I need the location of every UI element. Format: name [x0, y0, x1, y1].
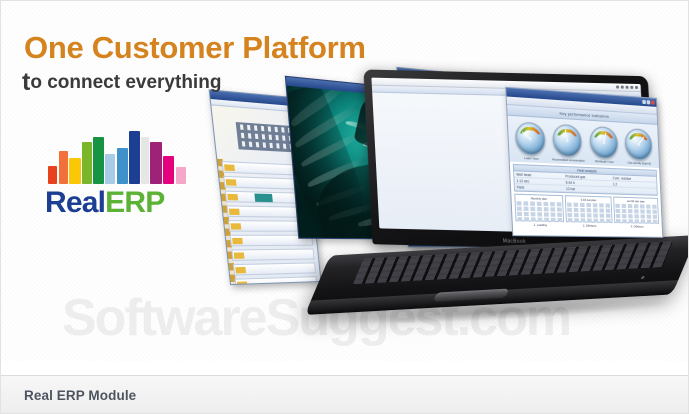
- mac-menubar-status-icons: [616, 85, 638, 89]
- kpi-cell-1-0: Field: [515, 184, 564, 191]
- logo-bar-1: [59, 151, 68, 184]
- list-item: [616, 214, 657, 219]
- logo-bar-2: [69, 158, 81, 184]
- logo-text-real: Real: [45, 186, 105, 219]
- bluetooth-icon: [616, 85, 619, 88]
- kpi-gauge-row: Load / hourAccumulated consumptionWorklo…: [508, 116, 660, 168]
- gauge-hub: [637, 143, 640, 146]
- page-title: One Customer Platform: [24, 30, 366, 66]
- logo-bar-9: [150, 142, 162, 184]
- gauge-label: Load / hour: [514, 155, 549, 161]
- activity-list-0[interactable]: Monthly plan1. Loading: [514, 194, 564, 223]
- gauge-dial-icon: [515, 121, 546, 155]
- logo-text-erp: ERP: [105, 186, 164, 219]
- hero-area: One Customer Platform to connect everyth…: [0, 0, 689, 375]
- gauge-hub: [566, 139, 569, 142]
- gauge-label: Gas density (kg/m3): [623, 160, 655, 165]
- list-item: [517, 212, 562, 217]
- activity-list-1[interactable]: 3-18 cat plan2. Offshore: [565, 195, 613, 223]
- activity-list-footer: 2. Offshore: [568, 223, 611, 228]
- device-composition: MacBook Key performance indicators Load …: [195, 68, 689, 368]
- logo-bar-5: [105, 154, 115, 184]
- list-item: [616, 219, 657, 224]
- clock-icon: [635, 86, 638, 89]
- footer-spacer: [0, 361, 689, 375]
- realerp-logo: RealERP: [45, 130, 195, 220]
- laptop-port-icon: [641, 276, 645, 279]
- list-item: [517, 217, 562, 222]
- logo-bar-6: [117, 148, 128, 184]
- footer-bar: Real ERP Module: [0, 375, 689, 414]
- logo-bar-graphic: [48, 126, 188, 184]
- gauge-label: Workload / hour: [588, 159, 621, 165]
- gauge-hub: [602, 141, 605, 144]
- promo-banner: One Customer Platform to connect everyth…: [0, 0, 689, 414]
- list-item: [568, 218, 611, 223]
- logo-bar-10: [163, 156, 174, 184]
- kpi-cell-1-1: 12 bar: [564, 186, 612, 193]
- subtitle-lead-letter: t: [22, 68, 30, 96]
- minimize-icon: [642, 100, 646, 104]
- close-icon: [651, 100, 655, 104]
- gauge-dial-icon: [624, 128, 653, 161]
- logo-bar-0: [48, 166, 57, 184]
- activity-list-footer: 3. Offshore: [616, 224, 657, 229]
- page-subtitle: to connect everything: [22, 72, 221, 94]
- battery-icon: [630, 86, 633, 89]
- maximize-icon: [647, 100, 651, 104]
- gauge-dial-icon: [552, 124, 582, 158]
- kpi-gauge-2: Workload / hour: [587, 126, 621, 165]
- gauge-hub: [529, 137, 532, 140]
- logo-bar-11: [176, 167, 186, 184]
- list-item: [517, 206, 562, 211]
- logo-bar-4: [93, 137, 104, 184]
- kpi-dashboard-window: Key performance indicators Load / hourAc…: [505, 87, 663, 238]
- logo-bar-3: [82, 142, 92, 184]
- activity-list-footer: 1. Loading: [518, 222, 563, 227]
- footer-title: Real ERP Module: [24, 388, 136, 403]
- kpi-activity-lists: Monthly plan1. Loading3-18 cat plan2. Of…: [511, 194, 661, 224]
- logo-wordmark: RealERP: [45, 186, 164, 220]
- kpi-gauge-0: Load / hour: [512, 121, 548, 161]
- kpi-cell-1-2: [611, 187, 657, 194]
- kpi-field-analysis-panel: Field analysis Well head Produced gas Cu…: [513, 164, 658, 196]
- list-item: [567, 213, 610, 218]
- subtitle-rest: o connect everything: [30, 72, 221, 93]
- gauge-dial-icon: [589, 126, 618, 159]
- kpi-gauge-1: Accumulated consumption: [550, 124, 585, 163]
- kpi-gauge-3: Gas density (kg/m3): [622, 128, 655, 166]
- gauge-label: Accumulated consumption: [552, 157, 586, 163]
- logo-bar-8: [141, 137, 149, 184]
- logo-bar-7: [129, 131, 140, 184]
- activity-list-2[interactable]: set 84 wkr plan3. Offshore: [613, 197, 659, 224]
